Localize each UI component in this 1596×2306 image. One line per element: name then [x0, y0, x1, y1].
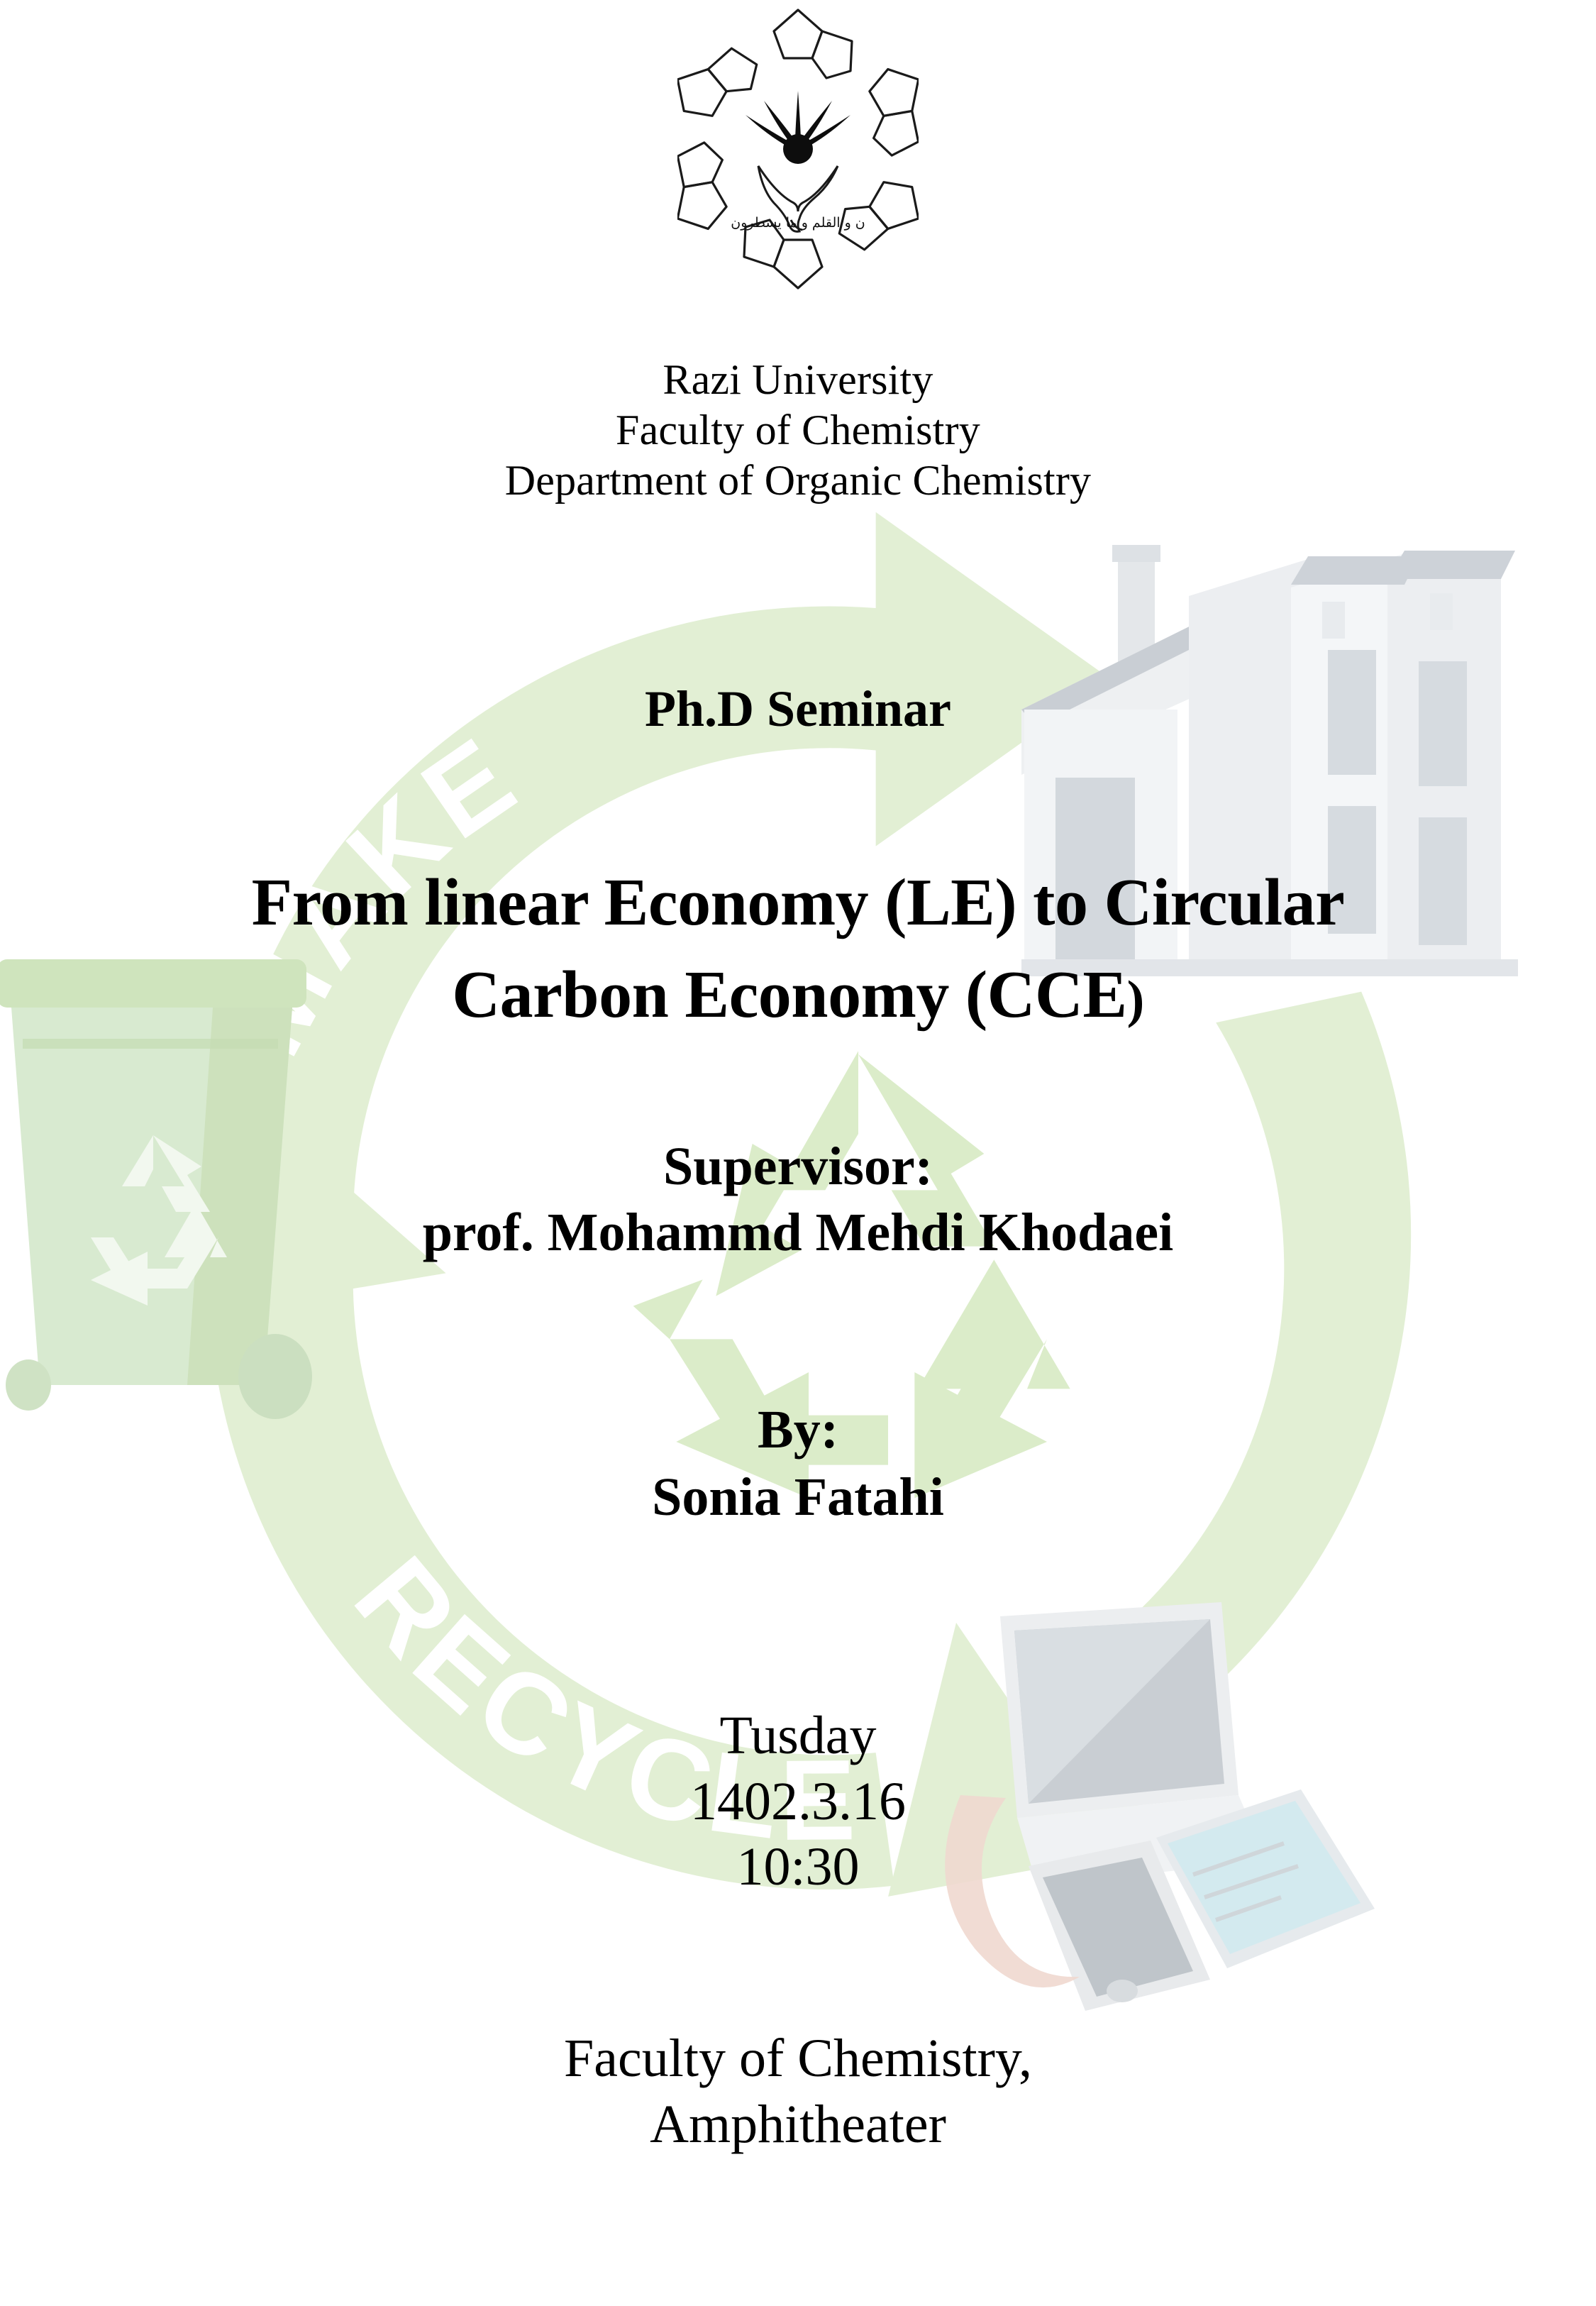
logo-motto-text: ن و القلم و ما يسطرون [731, 215, 865, 231]
presenter-label: By: [0, 1396, 1596, 1464]
seminar-title-line2-main: Carbon Economy (CCE [452, 958, 1126, 1032]
venue-line2: Amphitheater [0, 2092, 1596, 2158]
seminar-time: 10:30 [0, 1834, 1596, 1900]
venue-section: Faculty of Chemistry, Amphitheater [0, 2026, 1596, 2157]
seminar-title-line2-paren: ) [1127, 971, 1144, 1029]
pen-rays-icon [746, 91, 850, 164]
seminar-title-line1: From linear Economy (LE) to Circular [0, 857, 1596, 949]
institution-header: Razi University Faculty of Chemistry Dep… [0, 355, 1596, 505]
supervisor-section: Supervisor: prof. Mohammd Mehdi Khodaei [0, 1134, 1596, 1265]
presenter-section: By: Sonia Fatahi [0, 1396, 1596, 1531]
seminar-date: 1402.3.16 [0, 1769, 1596, 1835]
supervisor-name: prof. Mohammd Mehdi Khodaei [0, 1200, 1596, 1266]
poster-content: ن و القلم و ما يسطرون Razi University Fa… [0, 0, 1596, 2306]
faculty-name: Faculty of Chemistry [0, 405, 1596, 456]
department-name: Department of Organic Chemistry [0, 456, 1596, 506]
university-logo: ن و القلم و ما يسطرون [0, 7, 1596, 291]
datetime-section: Tusday 1402.3.16 10:30 [0, 1703, 1596, 1900]
seminar-title-line2: Carbon Economy (CCE) [0, 949, 1596, 1042]
seminar-title: From linear Economy (LE) to Circular Car… [0, 857, 1596, 1041]
university-name: Razi University [0, 355, 1596, 405]
presenter-name: Sonia Fatahi [0, 1464, 1596, 1531]
venue-line1: Faculty of Chemistry, [0, 2026, 1596, 2092]
seminar-weekday: Tusday [0, 1703, 1596, 1769]
supervisor-label: Supervisor: [0, 1134, 1596, 1200]
seminar-poster: MAKE RECYCLE USE [0, 0, 1596, 2306]
razi-university-seal-icon: ن و القلم و ما يسطرون [677, 7, 919, 291]
seminar-type-label: Ph.D Seminar [0, 681, 1596, 737]
